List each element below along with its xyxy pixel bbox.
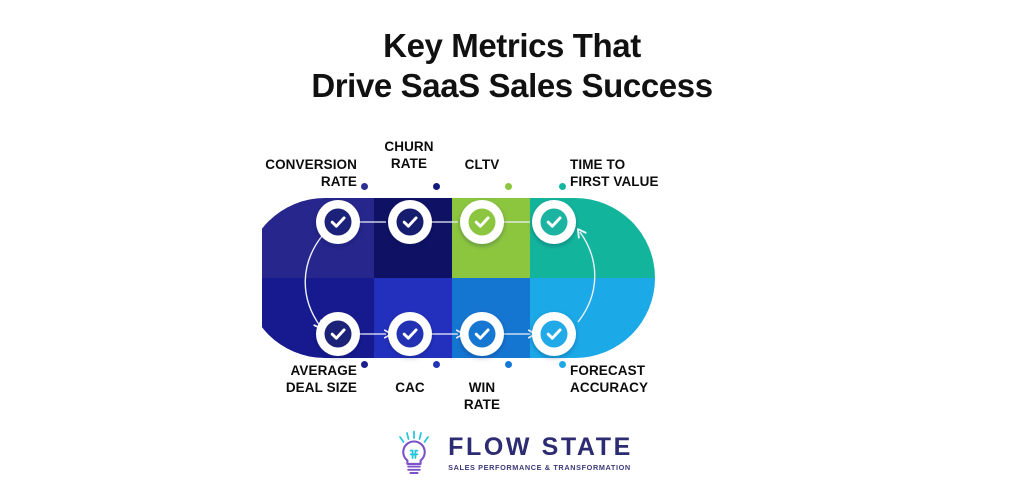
- label-cac: CAC: [374, 379, 446, 396]
- badge-time-to-first-value[interactable]: [532, 200, 576, 244]
- brand-logo: FLOW STATE SALES PERFORMANCE & TRANSFORM…: [0, 428, 1024, 478]
- dot-conversion-rate: [361, 183, 368, 190]
- dot-churn-rate: [433, 183, 440, 190]
- metrics-loop-diagram: CONVERSION RATE CHURN RATE CLTV TIME TO …: [262, 130, 762, 420]
- logo-text-block: FLOW STATE SALES PERFORMANCE & TRANSFORM…: [448, 435, 633, 471]
- label-churn-rate: CHURN RATE: [368, 138, 450, 172]
- title-line-1: Key Metrics That: [0, 26, 1024, 66]
- dot-cltv: [505, 183, 512, 190]
- dot-cac: [433, 361, 440, 368]
- dot-average-deal-size: [361, 361, 368, 368]
- label-win-rate: WIN RATE: [446, 379, 518, 413]
- dot-forecast-accuracy: [559, 361, 566, 368]
- title-line-2: Drive SaaS Sales Success: [0, 66, 1024, 106]
- page-title: Key Metrics That Drive SaaS Sales Succes…: [0, 26, 1024, 106]
- label-time-to-first-value: TIME TO FIRST VALUE: [570, 156, 700, 190]
- badge-churn-rate[interactable]: [388, 200, 432, 244]
- segment-top-left-outer: [262, 188, 374, 278]
- badge-conversion-rate[interactable]: [316, 200, 360, 244]
- logo-tagline: SALES PERFORMANCE & TRANSFORMATION: [448, 464, 633, 471]
- label-average-deal-size: AVERAGE DEAL SIZE: [252, 362, 357, 396]
- dot-win-rate: [505, 361, 512, 368]
- badge-win-rate[interactable]: [460, 312, 504, 356]
- badge-forecast-accuracy[interactable]: [532, 312, 576, 356]
- logo-wordmark: FLOW STATE: [448, 435, 633, 460]
- label-forecast-accuracy: FORECAST ACCURACY: [570, 362, 700, 396]
- badge-average-deal-size[interactable]: [316, 312, 360, 356]
- badge-cltv[interactable]: [460, 200, 504, 244]
- label-cltv: CLTV: [446, 156, 518, 173]
- lightbulb-icon: [391, 428, 437, 478]
- dot-time-to-first-value: [559, 183, 566, 190]
- badge-cac[interactable]: [388, 312, 432, 356]
- label-conversion-rate: CONVERSION RATE: [252, 156, 357, 190]
